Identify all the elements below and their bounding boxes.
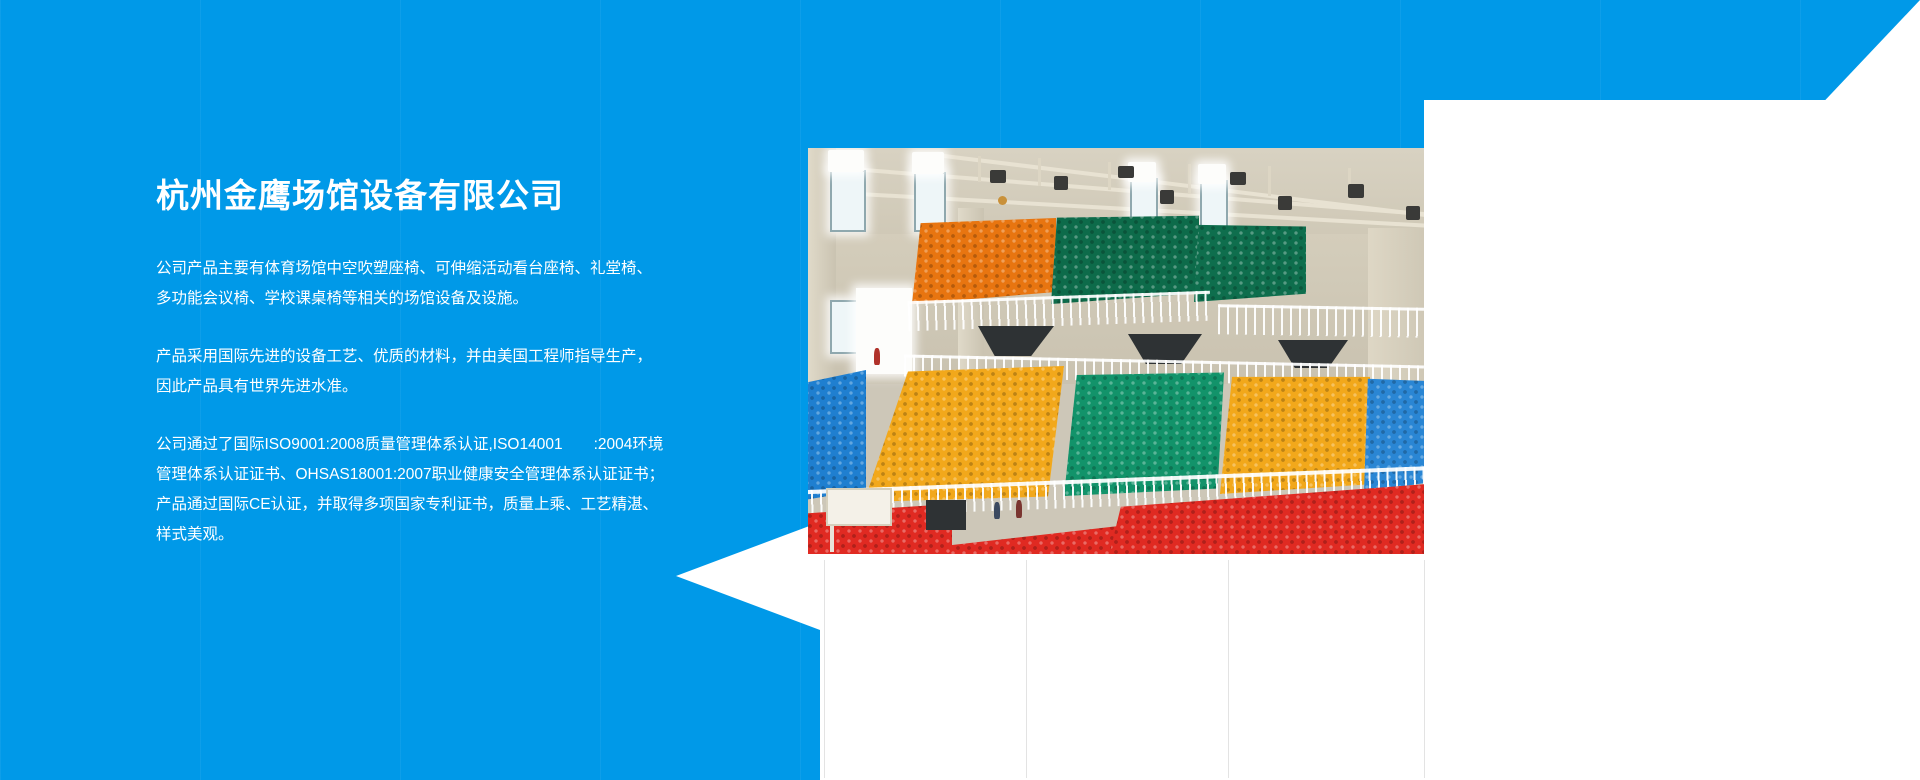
photo-person [1016,500,1022,518]
divider [824,560,825,778]
photo-seats [1194,220,1306,302]
photo-truss-vertical [1188,164,1191,194]
photo-window-glow [828,150,864,172]
divider [1424,560,1425,778]
photo-truss-vertical [1268,166,1271,196]
photo-speaker [1230,172,1246,185]
divider [1026,560,1027,778]
photo-speaker [1278,196,1292,210]
hero-text-column: 杭州金鹰场馆设备有限公司 公司产品主要有体育场馆中空吹塑座椅、可伸缩活动看台座椅… [156,178,666,550]
intro-paragraph-certification: 公司通过了国际ISO9001:2008质量管理体系认证,ISO14001 :20… [156,430,666,550]
photo-speaker [990,170,1006,183]
photo-person [994,502,1000,519]
photo-seat-block-blue [808,370,866,500]
photo-seats [808,370,866,500]
photo-basketball-backboard [826,488,892,526]
photo-speaker [1054,176,1068,190]
photo-seats [1051,214,1199,304]
photo-person [874,348,880,365]
photo-seats [912,218,1056,304]
photo-window-glow [1198,164,1226,184]
photo-truss-vertical [978,156,981,182]
photo-seat-block-darkgreen-right [1194,220,1306,302]
photo-truss-vertical [1108,162,1111,190]
photo-speaker [1406,206,1420,220]
photo-clock [998,196,1007,205]
photo-equipment-box [926,500,966,530]
divider [1228,560,1229,778]
stadium-seating-photo [808,148,1424,554]
photo-speaker [1160,190,1174,204]
photo-seats [950,520,1120,554]
page-title: 杭州金鹰场馆设备有限公司 [156,178,666,214]
photo-speaker [1118,166,1134,178]
photo-window [830,170,866,232]
photo-seat-block-orange [912,218,1056,304]
intro-paragraph-products: 公司产品主要有体育场馆中空吹塑座椅、可伸缩活动看台座椅、礼堂椅、多功能会议椅、学… [156,254,666,314]
photo-window-glow [912,152,944,174]
photo-seat-block-darkgreen [1051,214,1199,304]
intro-paragraph-technology: 产品采用国际先进的设备工艺、优质的材料，并由美国工程师指导生产，因此产品具有世界… [156,342,666,402]
photo-speaker [1348,184,1364,198]
photo-truss-vertical [1038,158,1041,186]
photo-seat-block-red-center [950,520,1120,554]
